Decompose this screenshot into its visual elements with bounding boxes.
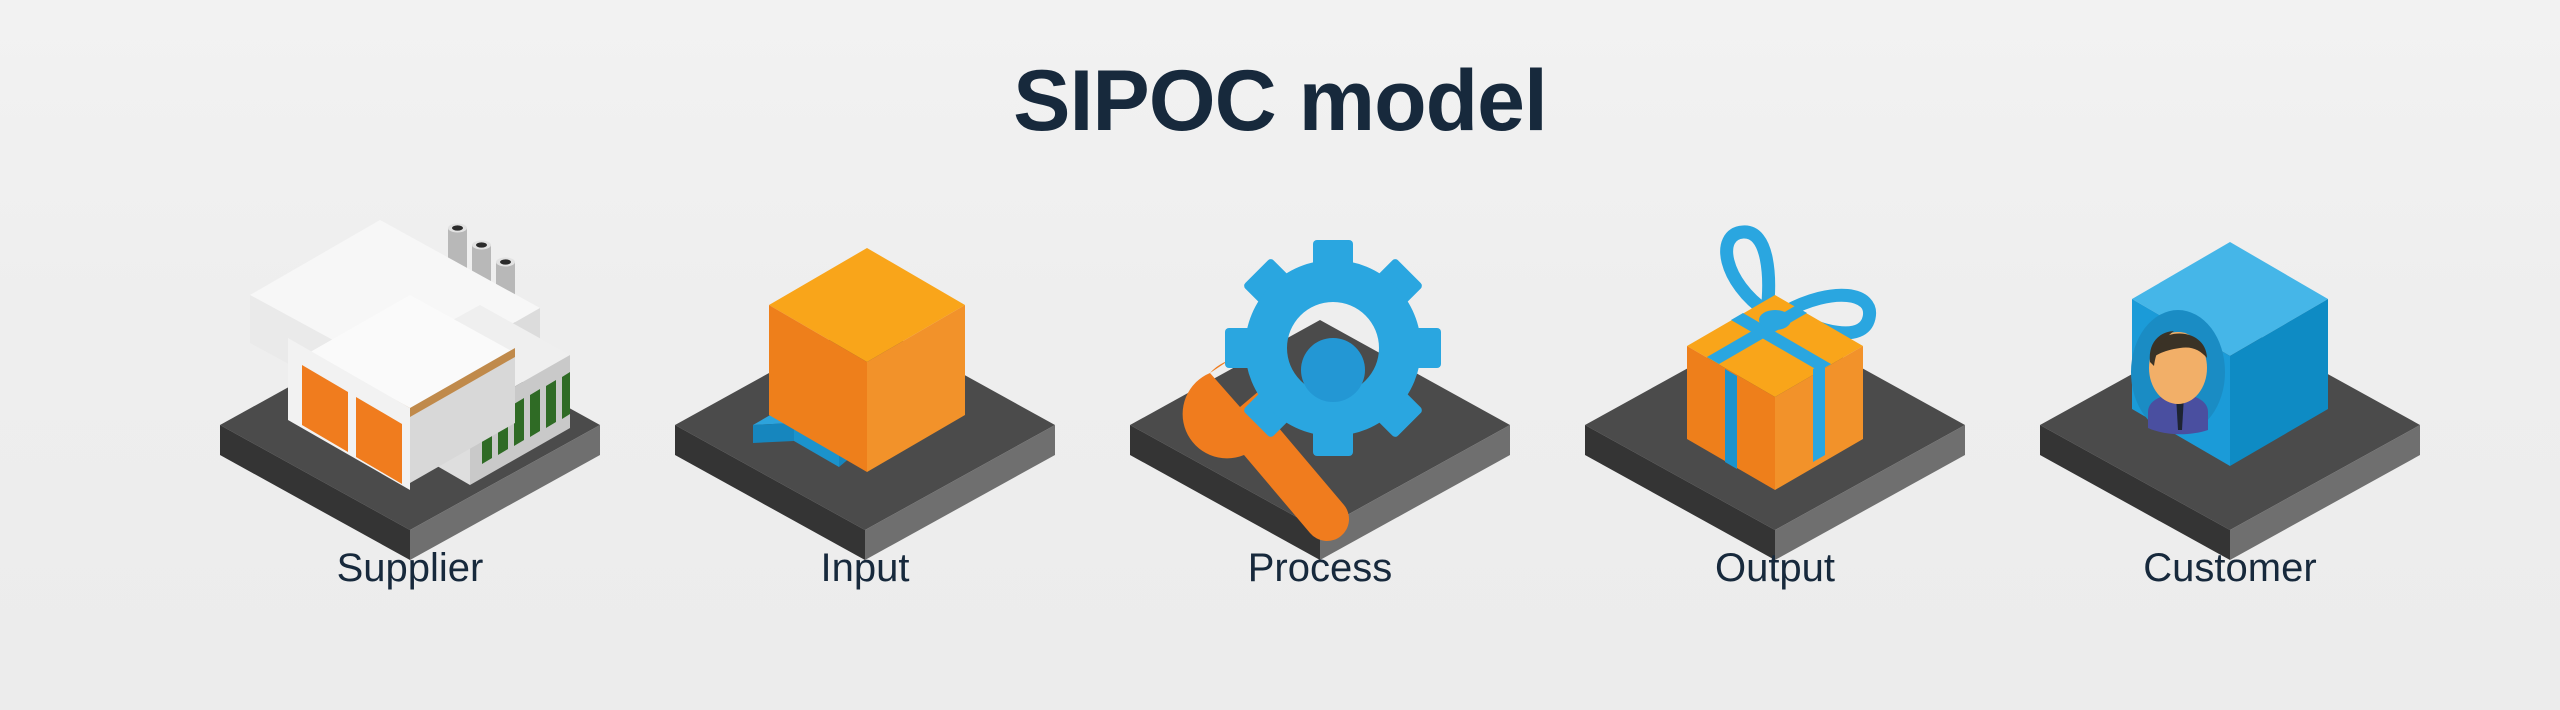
factory-icon [180, 200, 640, 530]
sipoc-diagram: SIPOC model [0, 0, 2560, 710]
gear-hub [1301, 338, 1365, 402]
stage-output[interactable]: Output [1545, 200, 2005, 670]
stage-label-input: Input [635, 548, 1095, 588]
stage-label-customer: Customer [2000, 548, 2460, 588]
stage-process[interactable]: Process [1090, 200, 1550, 670]
page-title: SIPOC model [0, 58, 2560, 144]
stage-customer[interactable]: Customer [2000, 200, 2460, 670]
cube-with-arrow-icon [635, 200, 1095, 530]
ribbon-knot [1759, 310, 1791, 330]
gear-and-wrench-icon [1090, 200, 1550, 530]
ribbon-right [1813, 362, 1825, 462]
stage-supplier[interactable]: Supplier [180, 200, 640, 670]
stage-label-supplier: Supplier [180, 548, 640, 588]
gift-box-icon [1545, 200, 2005, 530]
stage-label-output: Output [1545, 548, 2005, 588]
person-cube-icon [2000, 200, 2460, 530]
avatar [2131, 310, 2225, 434]
stage-label-process: Process [1090, 548, 1550, 588]
ribbon-left [1725, 369, 1737, 469]
stage-input[interactable]: Input [635, 200, 1095, 670]
gear [1225, 240, 1441, 456]
